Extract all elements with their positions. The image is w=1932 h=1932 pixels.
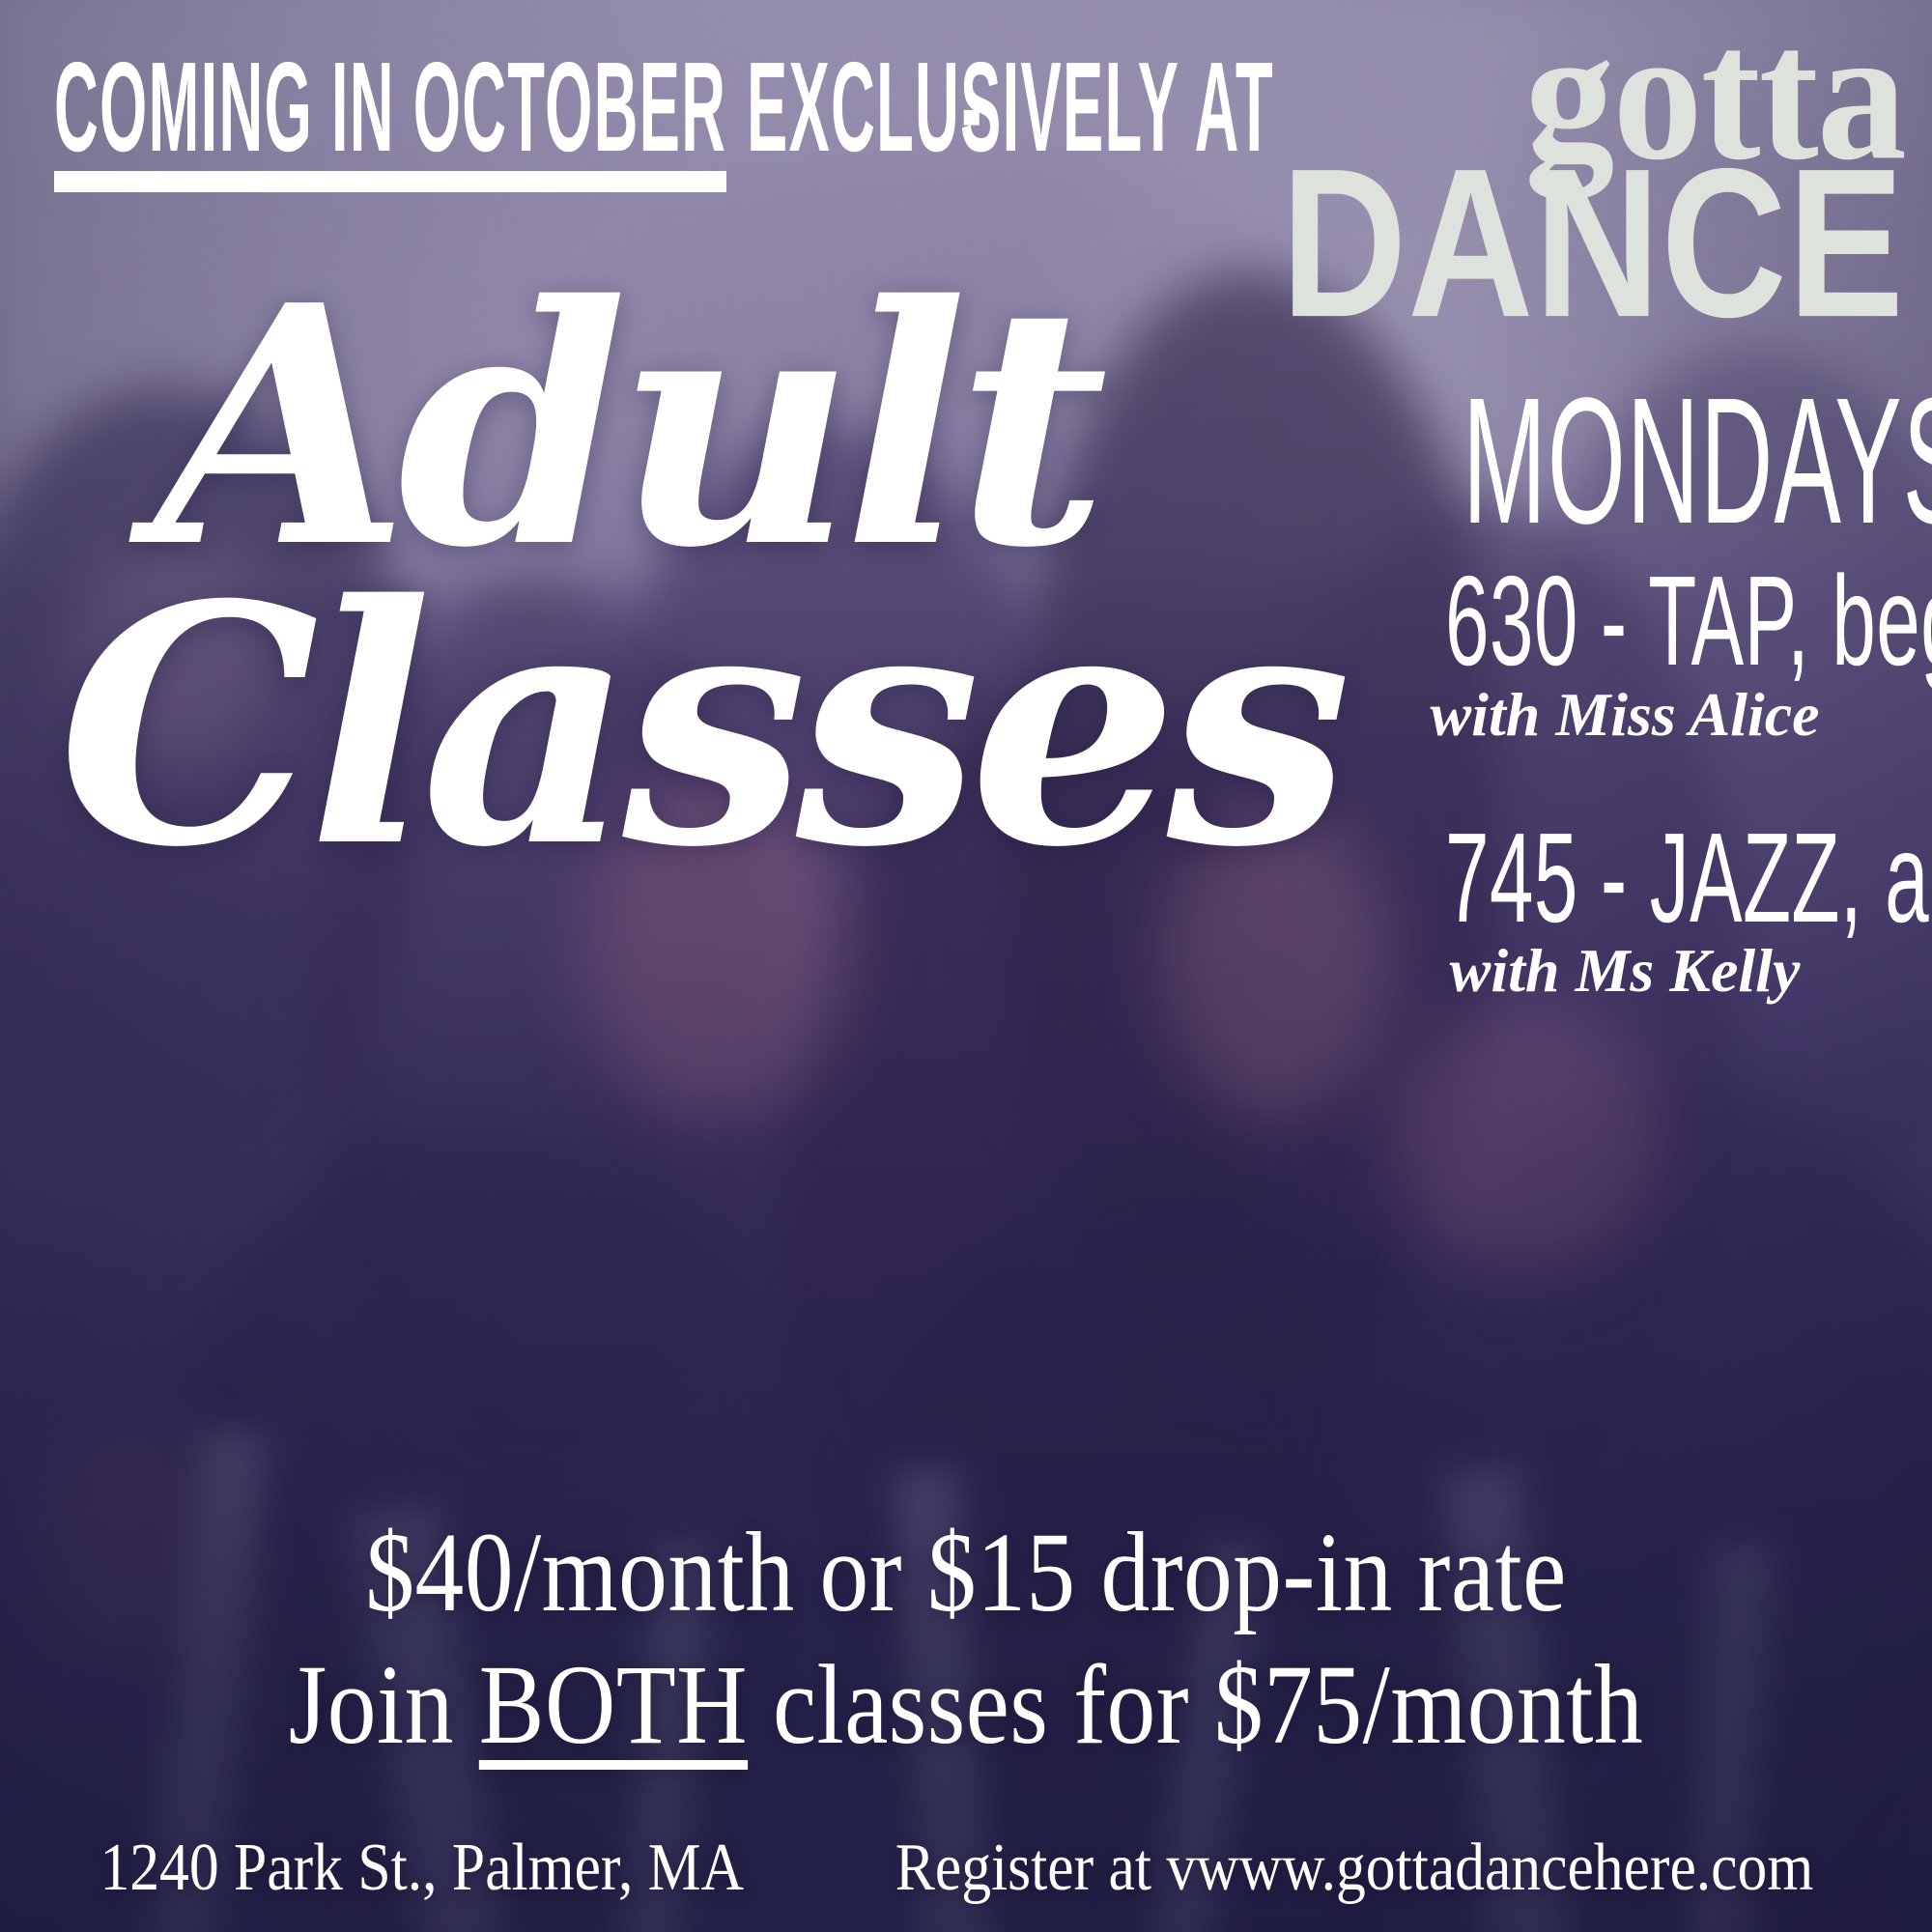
headline-adult: Adult <box>155 290 1140 566</box>
schedule-instructor-jazz: with Ms Kelly <box>1335 940 1915 1002</box>
schedule-time-and-class-tap: 630 - TAP, beg/int <box>1445 562 1804 679</box>
pricing-both-suffix: classes for $75/month <box>748 1641 1643 1768</box>
logo-word-dance: DANCE <box>1281 161 1905 327</box>
eyebrow-coming-in-october: COMING IN OCTOBER <box>54 50 726 192</box>
class-schedule: MONDAYS 630 - TAP, beg/int with Miss Ali… <box>1335 386 1915 1002</box>
footer: 1240 Park St., Palmer, MA Register at vw… <box>0 1830 1932 1907</box>
gotta-dance-logo: gotta DANCE <box>1227 29 1905 309</box>
pricing-both-emphasis: BOTH <box>479 1641 748 1768</box>
schedule-slot-tap: 630 - TAP, beg/int with Miss Alice <box>1335 562 1915 745</box>
schedule-day-mondays: MONDAYS <box>1463 386 1787 537</box>
pricing-both-classes: Join BOTH classes for $75/month <box>135 1639 1797 1772</box>
schedule-slot-jazz: 745 - JAZZ, all levels with Ms Kelly <box>1335 819 1915 1002</box>
headline-classes: Classes <box>58 589 1140 866</box>
footer-address: 1240 Park St., Palmer, MA <box>99 1830 744 1907</box>
eyebrow-exclusively-at: EXCLUSIVELY AT <box>747 50 1274 165</box>
schedule-time-and-class-jazz: 745 - JAZZ, all levels <box>1445 819 1804 936</box>
pricing-monthly-and-dropin: $40/month or $15 drop-in rate <box>135 1507 1797 1639</box>
dance-studio-flyer: COMING IN OCTOBER - EXCLUSIVELY AT gotta… <box>0 0 1932 1932</box>
schedule-instructor-tap: with Miss Alice <box>1335 684 1915 746</box>
page-title: Adult Classes <box>58 290 1140 865</box>
pricing-block: $40/month or $15 drop-in rate Join BOTH … <box>0 1507 1932 1772</box>
pricing-join-prefix: Join <box>289 1641 479 1768</box>
footer-register-url[interactable]: Register at vwww.gottadancehere.com <box>895 1830 1813 1907</box>
